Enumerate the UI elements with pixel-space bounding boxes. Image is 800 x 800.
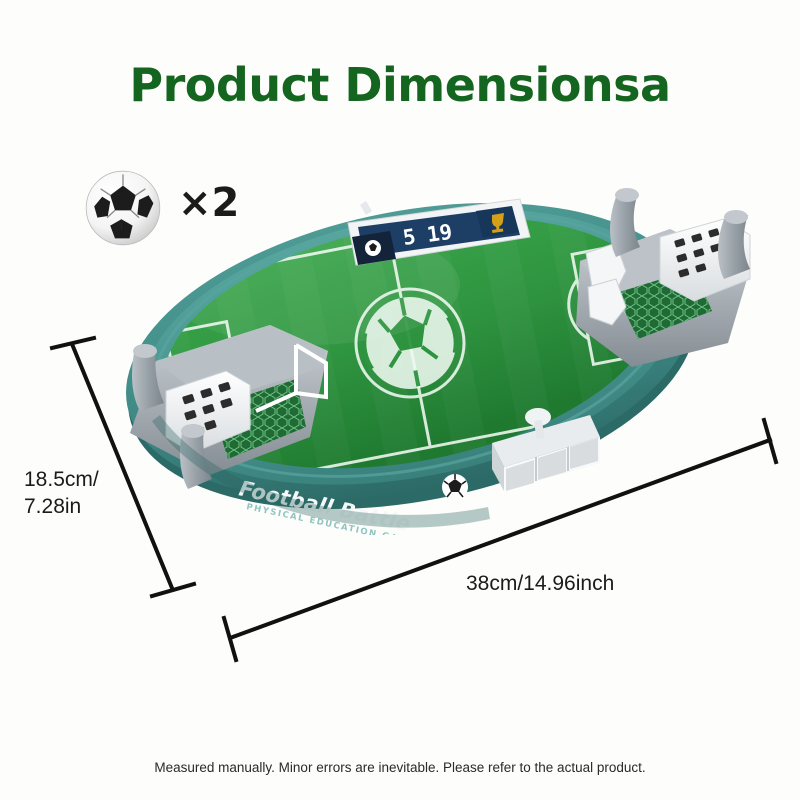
width-cap-left bbox=[224, 618, 236, 660]
product-illustration: 5 19 Footba bbox=[60, 175, 760, 535]
height-dimension-label: 18.5cm/ 7.28in bbox=[24, 466, 144, 520]
scoreboard-ball-icon bbox=[352, 231, 396, 265]
brand-ball-icon bbox=[442, 474, 468, 500]
corner-post-right-back bbox=[610, 188, 640, 257]
height-label-line2: 7.28in bbox=[24, 493, 144, 520]
width-dimension-label: 38cm/14.96inch bbox=[466, 572, 614, 596]
width-cap-right bbox=[764, 420, 776, 462]
height-label-line1: 18.5cm/ bbox=[24, 466, 144, 493]
footnote-text: Measured manually. Minor errors are inev… bbox=[0, 760, 800, 775]
page-title: Product Dimensionsa bbox=[0, 58, 800, 112]
football-battle-table-game: 5 19 Footba bbox=[60, 175, 760, 535]
score-right-value: 19 bbox=[425, 220, 453, 247]
product-dimensions-infographic: Product Dimensionsa ×2 bbox=[0, 0, 800, 800]
height-cap-bottom bbox=[152, 584, 194, 596]
goal-assembly-right bbox=[576, 188, 750, 367]
